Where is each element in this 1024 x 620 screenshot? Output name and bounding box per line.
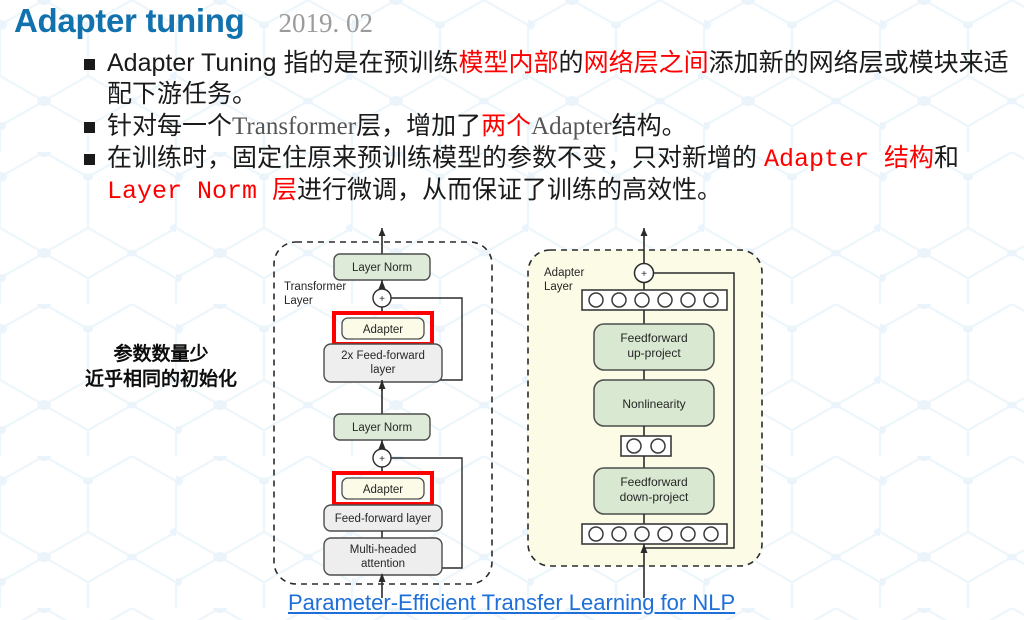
bullet-square-icon <box>84 122 95 133</box>
text-segment: 模型内部 <box>459 49 559 77</box>
text-segment: Layer Norm 层 <box>107 177 297 206</box>
adder-bottom-symbol: + <box>379 454 385 465</box>
block-layer-norm-top-label: Layer Norm <box>352 262 412 274</box>
text-segment: Transformer <box>232 113 356 140</box>
bullet-square-icon <box>84 59 95 70</box>
bullet-item-3: 在训练时，固定住原来预训练模型的参数不变，只对新增的 Adapter 结构和 L… <box>84 143 1014 207</box>
annotation-line-1: 参数数量少 <box>66 342 256 367</box>
adapter-adder-symbol: + <box>641 269 647 280</box>
block-nonlinearity-label: Nonlinearity <box>622 397 685 411</box>
block-feedforward-down-project-label-line1: Feedforward <box>620 475 687 489</box>
text-segment: 在训练时，固定住原来预训练模型的参数不变，只对新增的 <box>107 144 764 172</box>
text-segment: 两个 <box>481 112 531 140</box>
text-segment: 和 <box>934 144 959 172</box>
text-segment: 指的是在预训练 <box>284 49 459 77</box>
block-feedforward-up-project-label-line2: up-project <box>627 346 681 360</box>
text-segment: 进行微调，从而保证了训练的高效性。 <box>297 176 722 204</box>
adapter-caption-line1: Adapter <box>544 267 584 279</box>
annotation-line-2: 近乎相同的初始化 <box>66 367 256 392</box>
slide-date: 2019. 02 <box>278 8 373 39</box>
paper-link[interactable]: Parameter-Efficient Transfer Learning fo… <box>288 590 735 616</box>
block-adapter-top-label: Adapter <box>363 324 403 336</box>
text-segment: Adapter 结构 <box>764 145 934 174</box>
bullet-square-icon <box>84 154 95 165</box>
text-segment: 结构。 <box>612 112 687 140</box>
block-layer-norm-bottom-label: Layer Norm <box>352 422 412 434</box>
block-feed-forward-2x-label-line1: 2x Feed-forward <box>341 350 425 362</box>
bullet-list: Adapter Tuning 指的是在预训练模型内部的网络层之间添加新的网络层或… <box>84 48 1014 208</box>
text-segment: 针对每一个 <box>107 112 232 140</box>
page-title: Adapter tuning <box>14 2 244 40</box>
adapter-caption-line2: Layer <box>544 281 573 293</box>
block-multi-headed-attention-label-line1: Multi-headed <box>350 544 416 556</box>
text-segment: 层，增加了 <box>356 112 481 140</box>
block-adapter-bottom-label: Adapter <box>363 484 403 496</box>
block-feed-forward-layer-label: Feed-forward layer <box>335 513 432 525</box>
bullet-text-1: Adapter Tuning 指的是在预训练模型内部的网络层之间添加新的网络层或… <box>107 48 1014 110</box>
slide-header: Adapter tuning 2019. 02 <box>14 2 373 40</box>
block-multi-headed-attention-label-line2: attention <box>361 558 405 570</box>
bullet-item-2: 针对每一个Transformer层，增加了两个Adapter结构。 <box>84 111 1014 142</box>
block-feedforward-down-project-label-line2: down-project <box>620 490 689 504</box>
adder-top-symbol: + <box>379 294 385 305</box>
bullet-text-3: 在训练时，固定住原来预训练模型的参数不变，只对新增的 Adapter 结构和 L… <box>107 143 1014 207</box>
block-feed-forward-2x-label-line2: layer <box>371 364 396 376</box>
block-feedforward-up-project-label-line1: Feedforward <box>620 331 687 345</box>
text-segment: Adapter <box>531 113 612 140</box>
transformer-caption-line2: Layer <box>284 295 313 307</box>
annotation-note: 参数数量少 近乎相同的初始化 <box>66 342 256 392</box>
text-segment: Adapter Tuning <box>107 49 284 77</box>
transformer-caption-line1: Transformer <box>284 281 346 293</box>
adapter-architecture-figure: Transformer Layer Layer Norm + Adapter 2… <box>262 228 792 598</box>
text-segment: 的 <box>559 49 584 77</box>
text-segment: 网络层之间 <box>584 49 709 77</box>
bullet-item-1: Adapter Tuning 指的是在预训练模型内部的网络层之间添加新的网络层或… <box>84 48 1014 110</box>
bullet-text-2: 针对每一个Transformer层，增加了两个Adapter结构。 <box>107 111 687 142</box>
